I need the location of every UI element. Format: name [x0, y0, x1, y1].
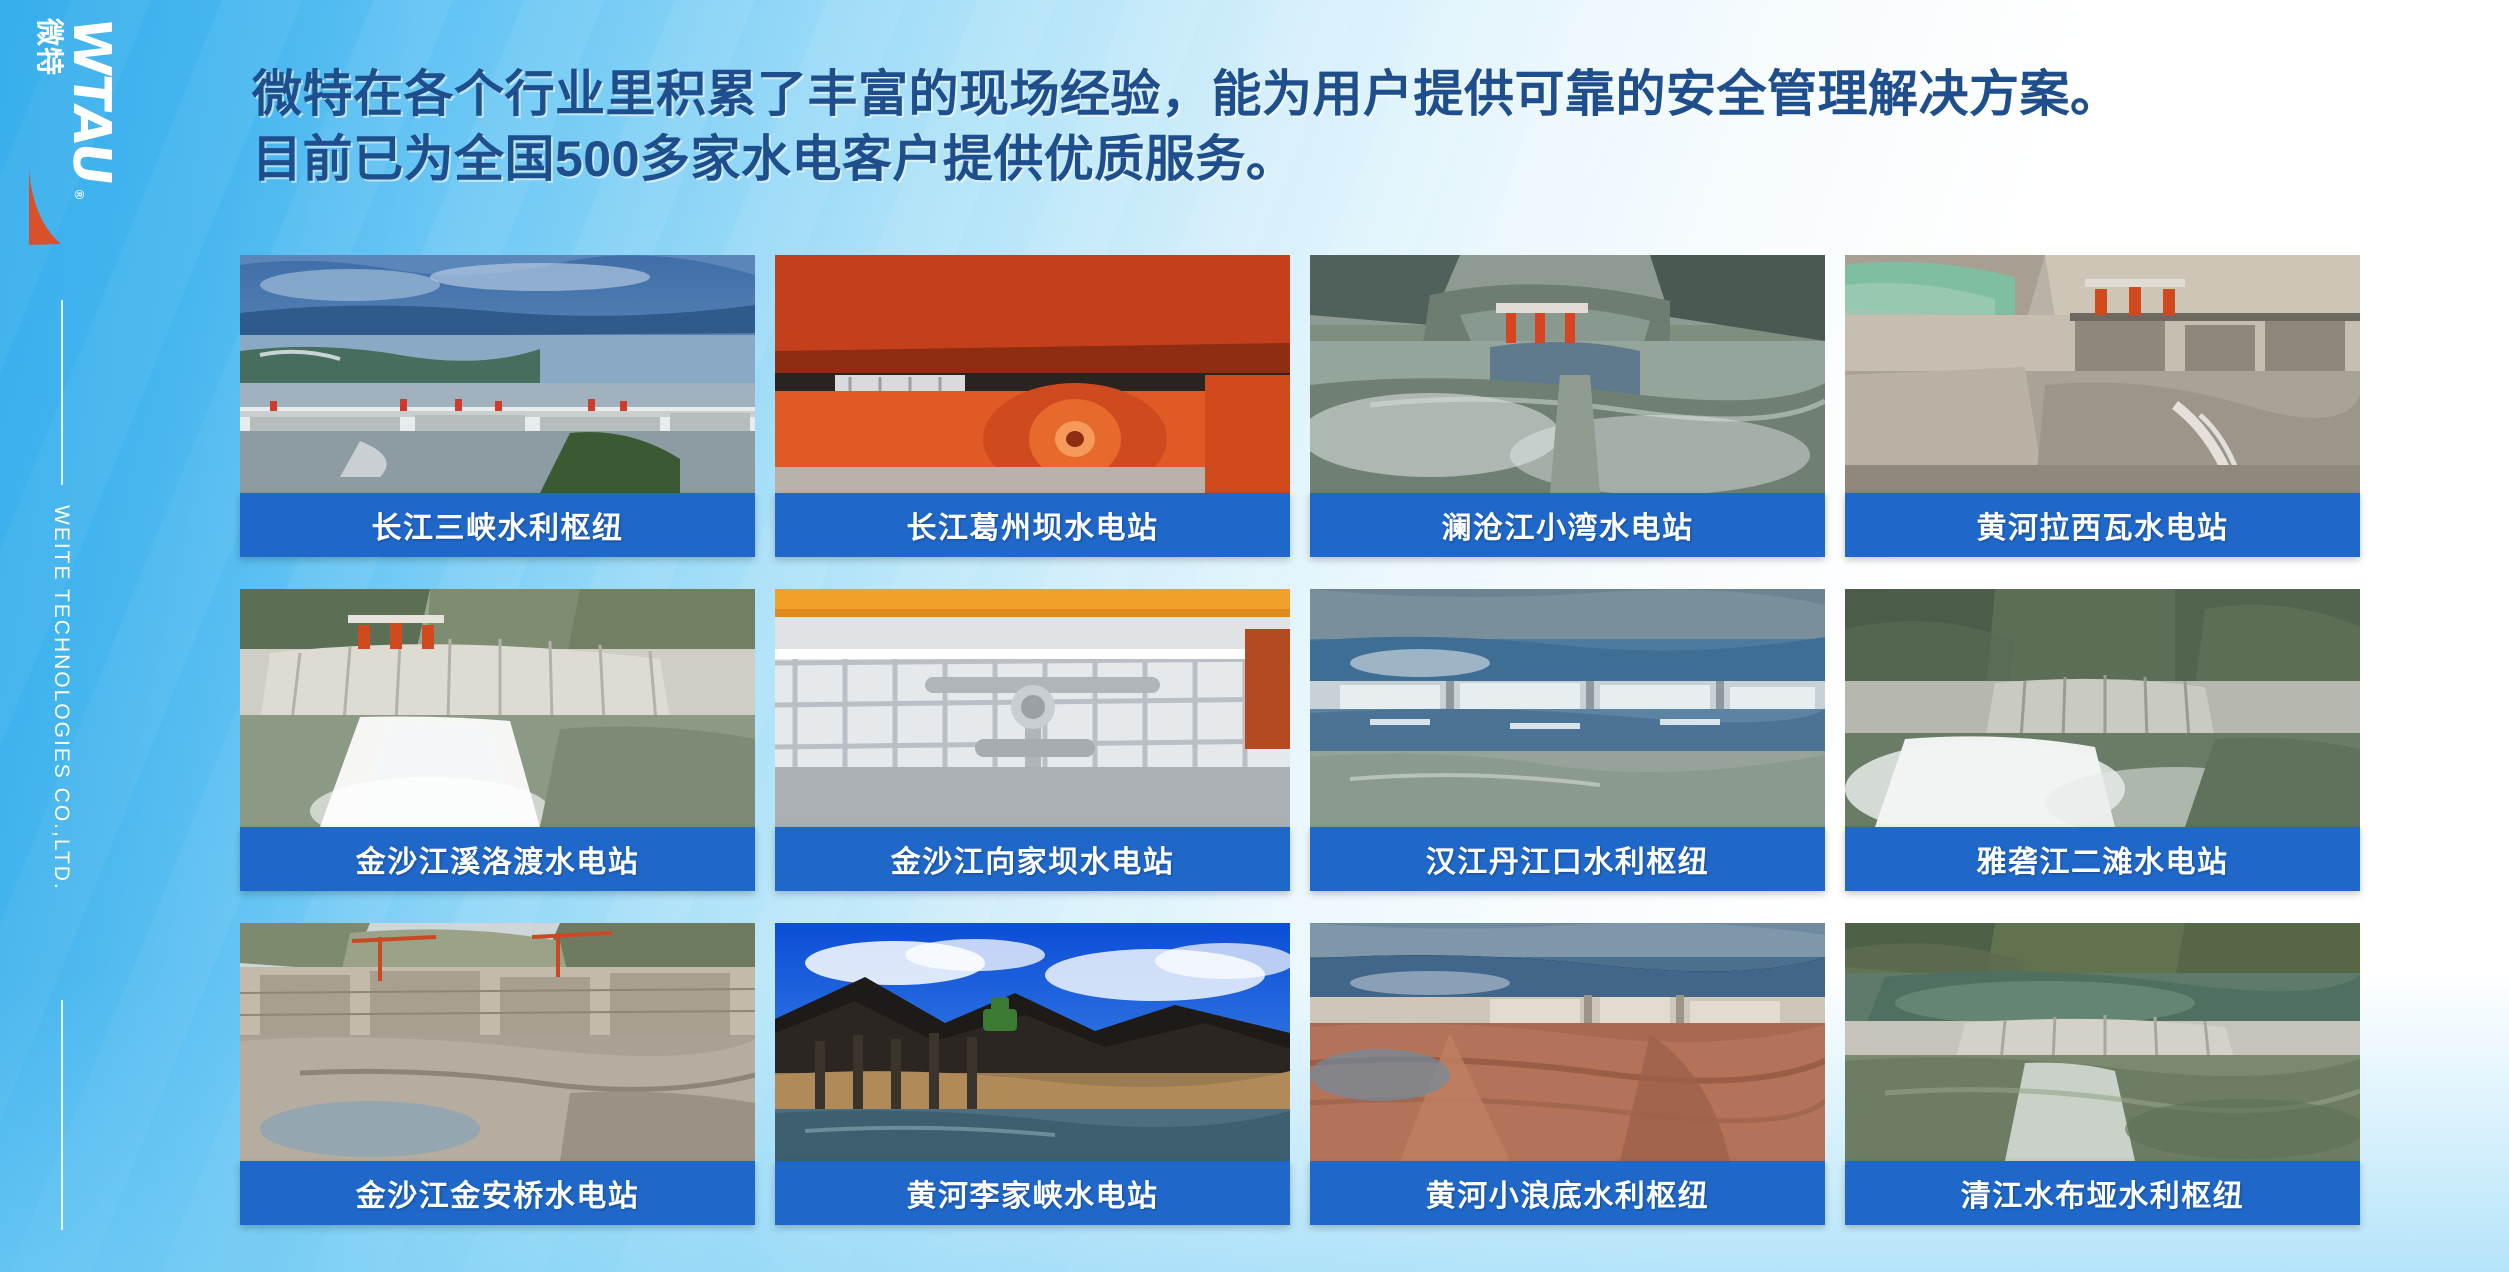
construction-site-image [240, 923, 755, 1161]
project-thumbnail [1845, 923, 2360, 1161]
project-card[interactable]: 黄河小浪底水利枢纽 [1310, 923, 1825, 1225]
project-thumbnail [1310, 589, 1825, 827]
project-caption: 汉江丹江口水利枢纽 [1310, 827, 1825, 891]
slide-root: WTAU ® 微特 WEITE TECHNOLOGIES CO.,LTD. 微特… [0, 0, 2509, 1272]
project-label: 金沙江金安桥水电站 [356, 1171, 640, 1215]
rail-divider-bottom [61, 1000, 63, 1230]
project-caption: 金沙江向家坝水电站 [775, 827, 1290, 891]
project-card[interactable]: 黄河李家峡水电站 [775, 923, 1290, 1225]
left-rail: WTAU ® 微特 WEITE TECHNOLOGIES CO.,LTD. [0, 0, 120, 1272]
red-earth-reservoir-image [1310, 923, 1825, 1161]
project-label: 清江水布垭水利枢纽 [1961, 1171, 2245, 1215]
company-logo: WTAU ® 微特 [6, 18, 114, 258]
aerial-reservoir-image [1310, 589, 1825, 827]
project-caption: 长江葛州坝水电站 [775, 493, 1290, 557]
orange-machinery-image [775, 255, 1290, 493]
headline-line-2: 目前已为全国500多家水电客户提供优质服务。 [252, 127, 2312, 192]
project-caption: 金沙江金安桥水电站 [240, 1161, 755, 1225]
project-thumbnail [775, 589, 1290, 827]
project-thumbnail [1310, 923, 1825, 1161]
project-thumbnail [240, 255, 755, 493]
canyon-construction-image [1845, 255, 2360, 493]
project-thumbnail [1845, 255, 2360, 493]
project-thumbnail [1310, 255, 1825, 493]
project-card[interactable]: 雅砻江二滩水电站 [1845, 589, 2360, 891]
project-caption: 长江三峡水利枢纽 [240, 493, 755, 557]
project-caption: 黄河拉西瓦水电站 [1845, 493, 2360, 557]
swoosh-icon [28, 168, 62, 246]
project-thumbnail [775, 923, 1290, 1161]
project-caption: 雅砻江二滩水电站 [1845, 827, 2360, 891]
project-label: 黄河李家峡水电站 [907, 1171, 1159, 1215]
project-card[interactable]: 澜沧江小湾水电站 [1310, 255, 1825, 557]
green-lake-dam-image [1845, 923, 2360, 1161]
project-card[interactable]: 长江葛州坝水电站 [775, 255, 1290, 557]
project-label: 金沙江向家坝水电站 [891, 837, 1175, 881]
project-label: 长江葛州坝水电站 [907, 503, 1159, 547]
rail-divider-top [61, 300, 63, 485]
project-label: 汉江丹江口水利枢纽 [1426, 837, 1710, 881]
headline-block: 微特在各个行业里积累了丰富的现场经验，能为用户提供可靠的安全管理解决方案。 目前… [252, 62, 2312, 192]
project-label: 黄河小浪底水利枢纽 [1426, 1171, 1710, 1215]
company-vertical-name: WEITE TECHNOLOGIES CO.,LTD. [49, 505, 73, 891]
three-gorges-dam-image [240, 255, 755, 493]
project-label: 黄河拉西瓦水电站 [1977, 503, 2229, 547]
white-railing-bridge-image [775, 589, 1290, 827]
project-card[interactable]: 清江水布垭水利枢纽 [1845, 923, 2360, 1225]
project-caption: 黄河李家峡水电站 [775, 1161, 1290, 1225]
project-caption: 金沙江溪洛渡水电站 [240, 827, 755, 891]
mountain-dam-mist-image [1845, 589, 2360, 827]
project-card[interactable]: 汉江丹江口水利枢纽 [1310, 589, 1825, 891]
project-caption: 清江水布垭水利枢纽 [1845, 1161, 2360, 1225]
headline-line-1: 微特在各个行业里积累了丰富的现场经验，能为用户提供可靠的安全管理解决方案。 [252, 62, 2312, 127]
project-label: 金沙江溪洛渡水电站 [356, 837, 640, 881]
project-thumbnail [775, 255, 1290, 493]
project-thumbnail [240, 589, 755, 827]
project-card[interactable]: 黄河拉西瓦水电站 [1845, 255, 2360, 557]
arch-dam-spillway-image [240, 589, 755, 827]
registered-trademark-icon: ® [72, 190, 87, 200]
project-card-grid: 长江三峡水利枢纽 [240, 255, 2420, 1225]
project-card[interactable]: 金沙江向家坝水电站 [775, 589, 1290, 891]
logo-wordmark: WTAU [66, 15, 114, 187]
logo-mark: WTAU ® [66, 18, 114, 258]
project-thumbnail [240, 923, 755, 1161]
project-card[interactable]: 金沙江金安桥水电站 [240, 923, 755, 1225]
project-caption: 澜沧江小湾水电站 [1310, 493, 1825, 557]
misty-dam-valley-image [1310, 255, 1825, 493]
project-label: 雅砻江二滩水电站 [1977, 837, 2229, 881]
project-card[interactable]: 金沙江溪洛渡水电站 [240, 589, 755, 891]
blue-sky-dam-image [775, 923, 1290, 1161]
project-thumbnail [1845, 589, 2360, 827]
project-caption: 黄河小浪底水利枢纽 [1310, 1161, 1825, 1225]
project-label: 长江三峡水利枢纽 [372, 503, 624, 547]
project-label: 澜沧江小湾水电站 [1442, 503, 1694, 547]
project-card[interactable]: 长江三峡水利枢纽 [240, 255, 755, 557]
